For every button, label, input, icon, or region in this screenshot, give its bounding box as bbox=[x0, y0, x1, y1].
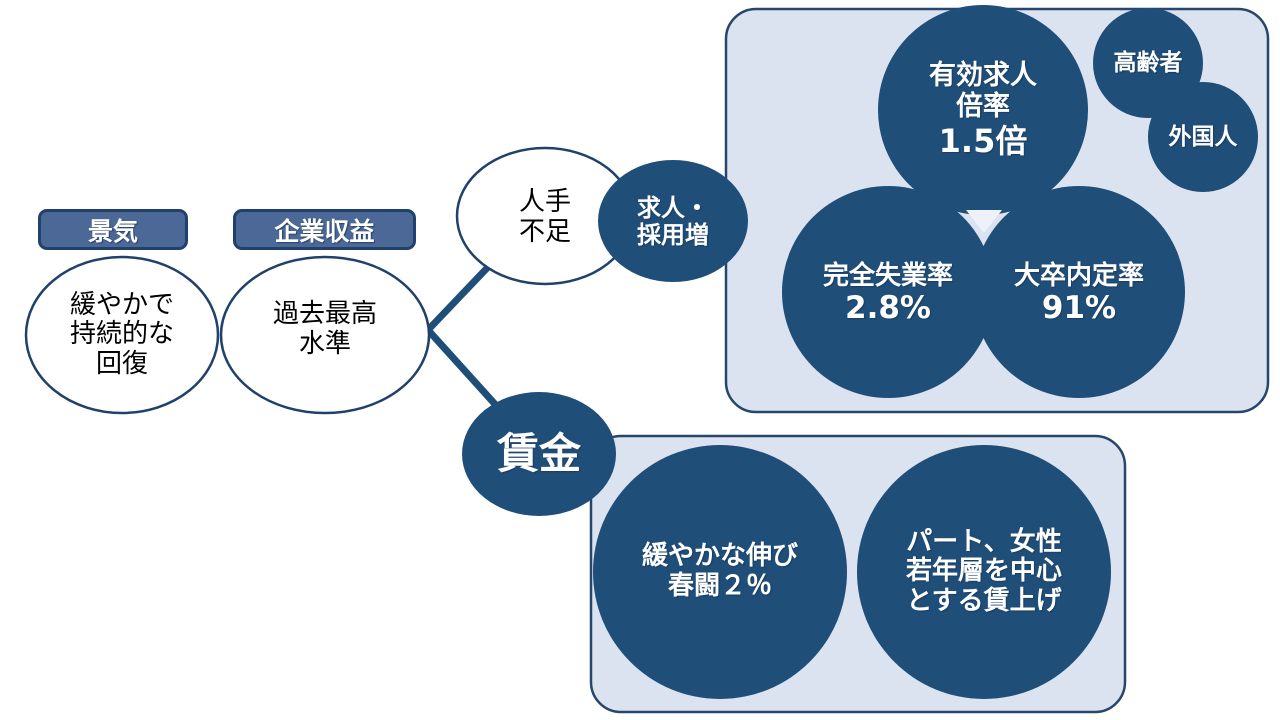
diagram-canvas: 景気 緩やかで 持続的な 回復 企業収益 過去最高 水準 人手 不足 求人・ 採… bbox=[0, 0, 1280, 720]
shapes-layer bbox=[0, 0, 1280, 720]
keiki-chip[interactable]: 景気 bbox=[38, 209, 188, 250]
keiki-circle bbox=[26, 257, 218, 413]
keiki-chip-label: 景気 bbox=[88, 212, 138, 248]
kigyou-shueki-chip[interactable]: 企業収益 bbox=[233, 209, 416, 250]
yuko-kyujin-bairitsu-circle bbox=[878, 5, 1088, 215]
connector-to-hitode bbox=[428, 266, 489, 330]
kigyou-shueki-circle bbox=[221, 257, 429, 413]
chingin-circle bbox=[462, 392, 616, 516]
connector-to-chingin bbox=[428, 330, 503, 413]
gaikokujin-circle bbox=[1148, 82, 1258, 192]
part-josei-circle bbox=[857, 445, 1111, 699]
daisotsu-naiteiritsu-circle bbox=[973, 186, 1185, 398]
yuruyakana-nobi-circle bbox=[593, 445, 847, 699]
kyujin-saiyou-circle bbox=[598, 160, 748, 282]
kanzen-shitsugyoritsu-circle bbox=[782, 186, 994, 398]
kigyou-shueki-chip-label: 企業収益 bbox=[274, 212, 374, 248]
